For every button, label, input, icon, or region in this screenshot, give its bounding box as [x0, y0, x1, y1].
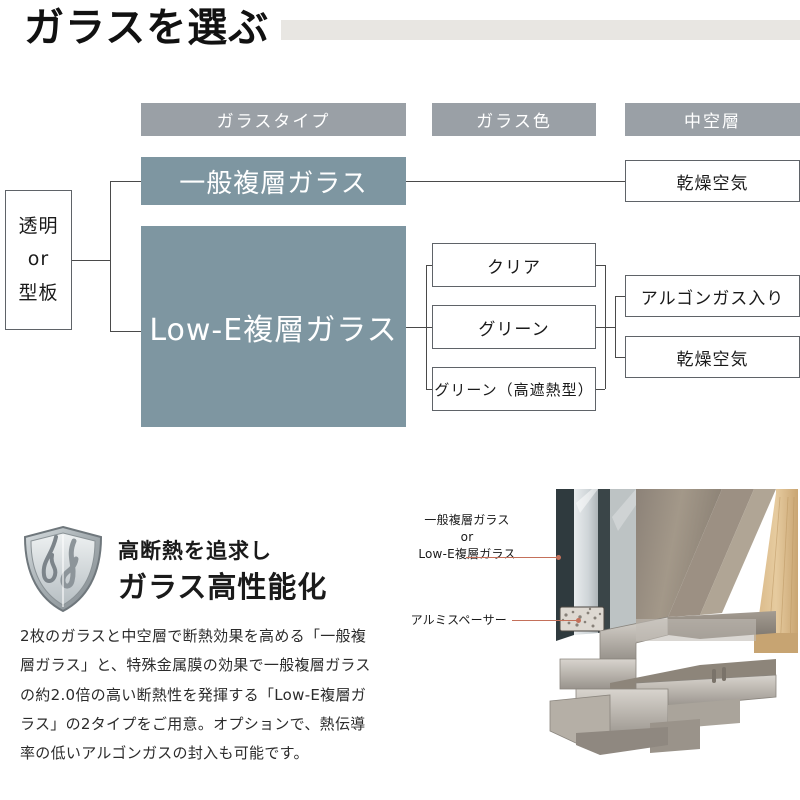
feature-title: ガラス高性能化: [118, 564, 327, 606]
connector-to-general: [110, 181, 141, 182]
glass-type-general: 一般複層ガラス: [141, 157, 406, 205]
glass-selection-diagram: ガラスタイプ ガラス色 中空層 透明 or 型板 一般複層ガラス Low-E複層…: [0, 0, 800, 470]
page-title: ガラスを選ぶ: [24, 4, 281, 52]
connector-merge-stub: [605, 327, 615, 328]
callout-glass-line-2: or: [461, 530, 474, 544]
column-header-glass-color: ガラス色: [432, 103, 596, 136]
page-root: ガラスを選ぶ ガラスタイプ ガラス色 中空層 透明 or 型板 一般複層ガラス …: [0, 0, 800, 800]
connector-green-shade-out: [596, 389, 605, 390]
source-line-3: 型板: [18, 277, 58, 310]
cavity-argon-gas: アルゴンガス入り: [625, 275, 800, 317]
feature-body-text: 2枚のガラスと中空層で断熱効果を高める「一般複層ガラス」と、特殊金属膜の効果で一…: [20, 622, 380, 768]
glass-color-green-high-shade: グリーン（高遮熱型）: [432, 367, 596, 411]
glass-color-clear: クリア: [432, 243, 596, 287]
leader-dot-glass: [556, 555, 561, 560]
feature-subtitle: 高断熱を追求し: [118, 535, 272, 565]
connector-gas-trunk: [615, 296, 616, 357]
cavity-dry-air-general: 乾燥空気: [625, 160, 800, 202]
leader-line-glass: [466, 557, 561, 558]
connector-clear-out: [596, 265, 605, 266]
shield-emblem-icon: [22, 525, 104, 613]
cavity-dry-air-lowe: 乾燥空気: [625, 336, 800, 378]
glass-type-lowe: Low-E複層ガラス: [141, 226, 406, 427]
callout-label-glass-type: 一般複層ガラス or Low-E複層ガラス: [392, 512, 542, 562]
connector-source-stub: [72, 260, 110, 261]
connector-to-argon: [615, 296, 625, 297]
column-header-cavity-layer: 中空層: [625, 103, 800, 136]
connector-source-trunk: [110, 181, 111, 331]
source-box-glass-surface: 透明 or 型板: [5, 190, 72, 330]
connector-to-lowe: [110, 331, 141, 332]
connector-lowe-stub: [406, 327, 426, 328]
leader-line-spacer: [512, 620, 580, 621]
source-line-1: 透明: [18, 210, 58, 243]
window-frame-cross-section-photo: [540, 483, 798, 766]
connector-green-out: [596, 327, 605, 328]
connector-general-to-dryair: [406, 181, 625, 182]
column-header-glass-type: ガラスタイプ: [141, 103, 406, 136]
leader-dot-spacer: [576, 618, 581, 623]
callout-glass-line-1: 一般複層ガラス: [424, 513, 509, 527]
callout-label-spacer: アルミスペーサー: [392, 612, 507, 629]
glass-color-green: グリーン: [432, 305, 596, 349]
source-line-2: or: [28, 243, 49, 276]
callout-glass-line-3: Low-E複層ガラス: [418, 547, 515, 561]
connector-to-dryair-lowe: [615, 357, 625, 358]
